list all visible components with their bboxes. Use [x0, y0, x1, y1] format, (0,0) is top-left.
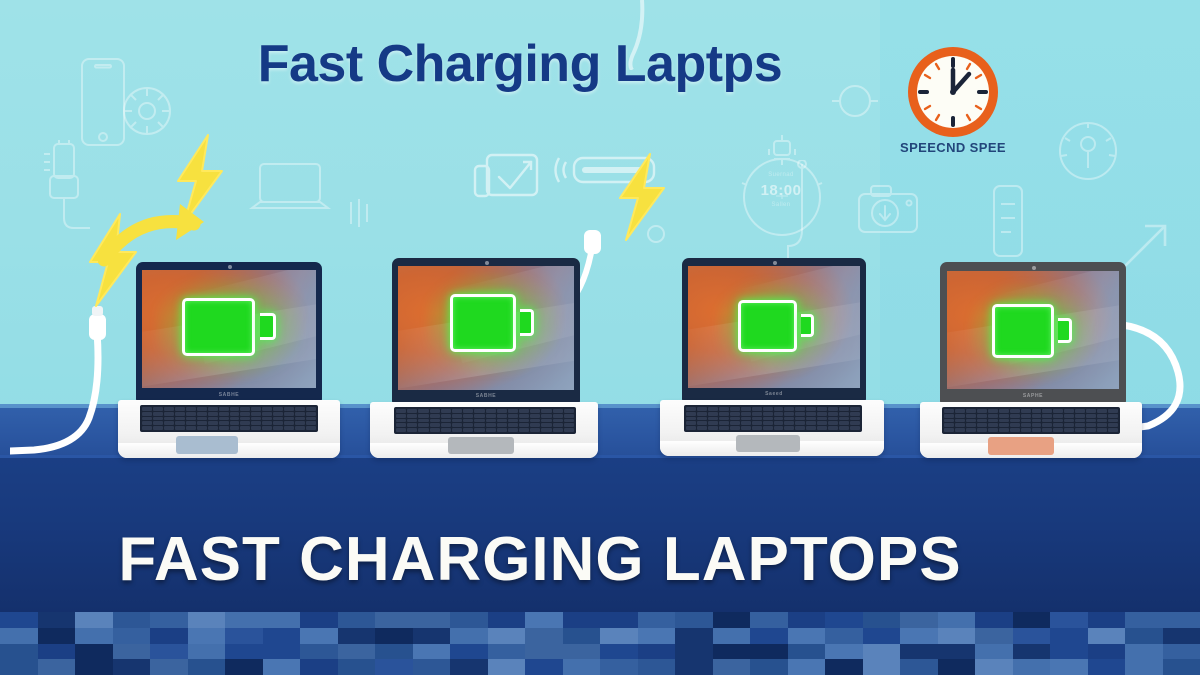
charging-cable-left — [10, 300, 120, 460]
mosaic-tile — [1013, 628, 1051, 644]
mosaic-tile — [0, 612, 38, 628]
mosaic-tile — [525, 612, 563, 628]
mosaic-tile — [38, 628, 76, 644]
mosaic-tile — [413, 659, 451, 675]
mosaic-tile — [488, 612, 526, 628]
laptop-1[interactable]: SABHE — [118, 262, 340, 458]
mosaic-tile — [788, 659, 826, 675]
mosaic-tile — [938, 612, 976, 628]
mosaic-tile — [0, 644, 38, 660]
mosaic-tile — [188, 659, 226, 675]
mosaic-tile — [975, 628, 1013, 644]
mosaic-tile — [1163, 659, 1200, 675]
mosaic-tile — [413, 612, 451, 628]
mosaic-tile — [563, 644, 601, 660]
mosaic-tile — [1163, 644, 1200, 660]
mosaic-tile — [38, 659, 76, 675]
mosaic-tile — [0, 659, 38, 675]
mosaic-tile — [113, 644, 151, 660]
mosaic-tile — [300, 628, 338, 644]
mosaic-tile — [600, 659, 638, 675]
mosaic-tile — [413, 644, 451, 660]
mosaic-tile — [1163, 628, 1200, 644]
laptop-2[interactable]: SABHE — [370, 258, 598, 458]
mosaic-tile — [713, 659, 751, 675]
mosaic-tile — [150, 644, 188, 660]
mosaic-tile — [863, 659, 901, 675]
mosaic-tile — [1013, 644, 1051, 660]
laptop-2-battery-icon — [450, 294, 534, 352]
mosaic-tile — [375, 644, 413, 660]
mosaic-tile — [225, 659, 263, 675]
mosaic-tile — [188, 628, 226, 644]
mosaic-tile — [1125, 644, 1163, 660]
mosaic-tile — [1050, 659, 1088, 675]
mosaic-tile — [1088, 628, 1126, 644]
mosaic-tile — [225, 644, 263, 660]
mosaic-tile — [750, 644, 788, 660]
mosaic-tile — [188, 612, 226, 628]
mosaic-tile — [900, 659, 938, 675]
laptop-4[interactable]: SAPHE — [920, 262, 1142, 458]
mosaic-tile — [75, 644, 113, 660]
check-arrow-icon — [465, 150, 545, 208]
laptop-4-camera-icon — [1032, 266, 1036, 270]
mosaic-tile — [900, 628, 938, 644]
page-title: Fast Charging Laptps — [0, 34, 1040, 94]
mosaic-tile — [938, 628, 976, 644]
stopwatch-bottom-text: Sallen — [745, 202, 817, 208]
mosaic-tile — [975, 644, 1013, 660]
mosaic-tile — [750, 612, 788, 628]
mosaic-tile — [1125, 659, 1163, 675]
mosaic-tile — [638, 659, 676, 675]
mosaic-tile — [488, 644, 526, 660]
mosaic-tile — [675, 612, 713, 628]
mosaic-tile — [750, 659, 788, 675]
mosaic-tile — [338, 628, 376, 644]
laptop-3[interactable]: Saeed — [660, 258, 884, 458]
mosaic-tile — [788, 612, 826, 628]
laptop-outline-icon — [248, 158, 332, 220]
laptop-3-battery-icon — [738, 300, 814, 352]
clock-badge-label: SPEECND SPEE — [893, 140, 1013, 155]
mosaic-tile — [188, 644, 226, 660]
mosaic-tile — [113, 628, 151, 644]
mosaic-tile — [1050, 628, 1088, 644]
laptop-1-camera-icon — [228, 265, 232, 269]
mosaic-tile — [1050, 644, 1088, 660]
mosaic-tile — [75, 612, 113, 628]
laptop-3-trackpad[interactable] — [736, 435, 800, 452]
mosaic-tile — [563, 628, 601, 644]
mosaic-tile — [900, 612, 938, 628]
mosaic-tile — [675, 644, 713, 660]
laptop-4-keyboard[interactable] — [942, 407, 1120, 434]
mosaic-tile — [150, 612, 188, 628]
mosaic-tile — [113, 659, 151, 675]
mosaic-tile — [713, 644, 751, 660]
mosaic-tile — [38, 644, 76, 660]
mosaic-tile — [675, 659, 713, 675]
stopwatch-top-text: Suernad — [745, 172, 817, 178]
mosaic-tile — [375, 628, 413, 644]
mosaic-tile — [225, 628, 263, 644]
laptop-4-base — [920, 402, 1142, 458]
mosaic-tile — [825, 644, 863, 660]
mosaic-tile — [1088, 644, 1126, 660]
mosaic-tile — [825, 628, 863, 644]
laptop-3-keyboard[interactable] — [684, 405, 862, 432]
mosaic-tile — [1163, 612, 1200, 628]
mosaic-tile — [338, 612, 376, 628]
mosaic-tile — [38, 612, 76, 628]
mosaic-tile — [1125, 628, 1163, 644]
mosaic-tile — [638, 628, 676, 644]
mosaic-tile — [263, 628, 301, 644]
mosaic-tile — [675, 628, 713, 644]
speedometer-icon — [1055, 118, 1121, 184]
wireless-waves-icon — [345, 196, 379, 230]
poster-image: SABHE SABHE — [0, 0, 1200, 675]
mosaic-tile — [338, 659, 376, 675]
mosaic-tile — [75, 628, 113, 644]
mosaic-tile — [638, 612, 676, 628]
stopwatch-time: 18:00 — [745, 182, 817, 199]
mosaic-tile — [525, 659, 563, 675]
mosaic-tile — [600, 628, 638, 644]
mosaic-tile — [863, 628, 901, 644]
mosaic-tile — [150, 628, 188, 644]
mosaic-tile — [263, 659, 301, 675]
mosaic-tile — [938, 644, 976, 660]
mosaic-tile — [975, 659, 1013, 675]
laptop-4-trackpad[interactable] — [988, 437, 1054, 455]
mosaic-tile — [863, 644, 901, 660]
camera-icon — [855, 182, 921, 238]
laptop-2-keyboard[interactable] — [394, 407, 576, 434]
mosaic-tile — [1088, 659, 1126, 675]
mosaic-tile — [600, 612, 638, 628]
mosaic-tile — [338, 644, 376, 660]
mosaic-tile — [863, 612, 901, 628]
mosaic-tile — [825, 612, 863, 628]
mosaic-tile — [825, 659, 863, 675]
laptop-3-brand: Saeed — [682, 391, 866, 397]
mosaic-tile — [1125, 612, 1163, 628]
mosaic-tile — [450, 659, 488, 675]
laptop-2-trackpad[interactable] — [448, 437, 514, 454]
laptop-2-base — [370, 402, 598, 458]
mosaic-tile — [450, 628, 488, 644]
mosaic-tile — [375, 659, 413, 675]
mosaic-strip — [0, 612, 1200, 675]
mosaic-tile — [525, 628, 563, 644]
mosaic-tile — [1088, 612, 1126, 628]
laptop-2-brand: SABHE — [392, 393, 580, 399]
mosaic-tile — [713, 628, 751, 644]
mosaic-tile — [113, 612, 151, 628]
mosaic-tile — [413, 628, 451, 644]
mosaic-tile — [300, 612, 338, 628]
mosaic-tile — [375, 612, 413, 628]
mosaic-tile — [1050, 612, 1088, 628]
laptop-2-camera-icon — [485, 261, 489, 265]
mosaic-tile — [788, 628, 826, 644]
mosaic-tile — [638, 644, 676, 660]
mosaic-tile — [563, 612, 601, 628]
laptop-1-base — [118, 400, 340, 458]
mosaic-tile — [150, 659, 188, 675]
banner-title: FAST CHARGING LAPTOPS — [0, 524, 1080, 595]
mosaic-tile — [525, 644, 563, 660]
mosaic-tile — [300, 644, 338, 660]
mosaic-tile — [900, 644, 938, 660]
mosaic-tile — [0, 628, 38, 644]
laptop-1-battery-icon — [182, 298, 276, 356]
laptop-4-brand: SAPHE — [940, 393, 1126, 399]
mosaic-tile — [450, 644, 488, 660]
laptop-3-base — [660, 400, 884, 456]
mosaic-tile — [75, 659, 113, 675]
laptop-1-brand: SABHE — [136, 392, 322, 398]
mosaic-tile — [488, 659, 526, 675]
mosaic-tile — [938, 659, 976, 675]
laptop-1-keyboard[interactable] — [140, 405, 318, 432]
mosaic-tile — [450, 612, 488, 628]
mosaic-tile — [1013, 612, 1051, 628]
mosaic-tile — [225, 612, 263, 628]
mosaic-tile — [1013, 659, 1051, 675]
mosaic-tile — [300, 659, 338, 675]
phone-outline-icon — [990, 182, 1026, 260]
mosaic-tile — [488, 628, 526, 644]
lightning-bolt-3 — [610, 152, 672, 242]
curved-arrow — [98, 196, 228, 268]
mosaic-tile — [975, 612, 1013, 628]
laptop-3-camera-icon — [773, 261, 777, 265]
mosaic-tile — [563, 659, 601, 675]
mosaic-tile — [600, 644, 638, 660]
laptop-4-battery-icon — [992, 304, 1072, 358]
laptop-1-trackpad[interactable] — [176, 436, 238, 454]
mosaic-tile — [788, 644, 826, 660]
mosaic-tile — [263, 644, 301, 660]
mosaic-tile — [750, 628, 788, 644]
mosaic-tile — [713, 612, 751, 628]
mosaic-tile — [263, 612, 301, 628]
